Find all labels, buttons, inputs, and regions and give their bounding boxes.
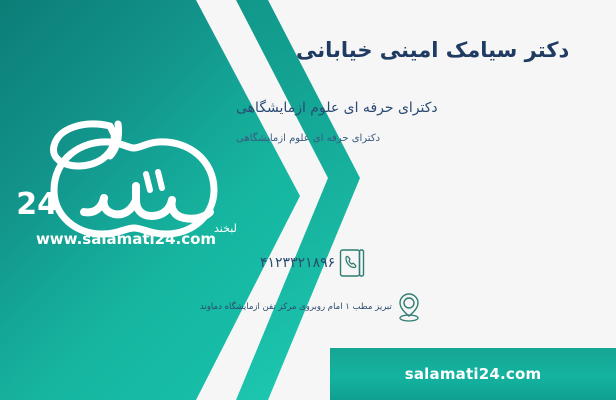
apple-outline-icon: 24 براحتی یک لبخند <box>14 112 238 242</box>
business-card: 24 براحتی یک لبخند www.salamati24.com دک… <box>0 0 616 400</box>
doctor-name: دکتر سیامک امینی خیابانی <box>296 38 596 62</box>
specialty-primary: دکترای حرفه ای علوم ازمایشگاهی <box>236 100 596 116</box>
specialty-secondary: دکترای حرفه ای علوم ازمایشگاهی <box>236 133 596 144</box>
logo-number-24: 24 <box>16 187 58 222</box>
phone-row: ۴۱۲۳۳۲۱۸۹۶ <box>260 246 600 280</box>
footer-website-bar[interactable]: salamati24.com <box>330 348 616 400</box>
brand-logo: 24 براحتی یک لبخند www.salamati24.com <box>14 112 238 272</box>
phone-number[interactable]: ۴۱۲۳۳۲۱۸۹۶ <box>260 255 335 271</box>
logo-website-url: www.salamati24.com <box>14 230 238 248</box>
footer-website-text: salamati24.com <box>405 365 542 383</box>
phone-book-icon <box>335 246 369 280</box>
clinic-address: تبریز مطب ۱ امام روبروی مرکز تفن ازمایشگ… <box>200 302 392 312</box>
location-pin-icon <box>392 290 426 324</box>
address-row: تبریز مطب ۱ امام روبروی مرکز تفن ازمایشگ… <box>200 290 600 324</box>
